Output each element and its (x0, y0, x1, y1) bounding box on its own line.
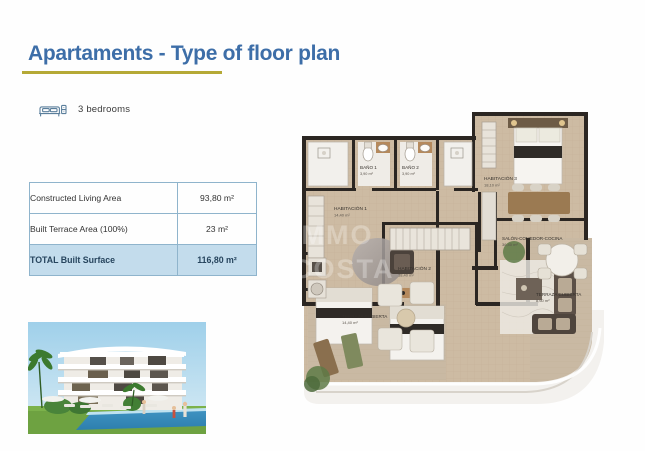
building-photo (28, 322, 206, 434)
room-label-habitacion-3: HABITACIÓN 3 (484, 175, 517, 182)
title-underline-bar (22, 71, 222, 74)
table-row: Constructed Living Area 93,80 m² (30, 183, 257, 214)
table-row-total: TOTAL Built Surface 116,80 m² (30, 245, 257, 276)
row-label: Constructed Living Area (30, 183, 178, 214)
area-table: Constructed Living Area 93,80 m² Built T… (29, 182, 257, 276)
table-row: Built Terrace Area (100%) 23 m² (30, 214, 257, 245)
row-label: TOTAL Built Surface (30, 245, 178, 276)
room-label-bano-1: BAÑO 1 (360, 164, 377, 170)
floorplan-drawing: IMMO COSTA BAÑO 1 3,90 m² BAÑO 2 3,90 m²… (286, 92, 622, 422)
row-value: 93,80 m² (178, 183, 257, 214)
room-area-habitacion-2: 18,40 m² (398, 273, 414, 278)
room-area-terraza-2: 8,60 m² (536, 298, 550, 303)
room-area-habitacion-3: 18,10 m² (484, 183, 500, 188)
room-label-habitacion-1: HABITACIÓN 1 (334, 205, 367, 212)
room-area-terraza-1: 14,40 m² (342, 320, 358, 325)
watermark-line-1: IMMO (292, 220, 374, 250)
page-title: Apartaments - Type of floor plan (28, 42, 340, 66)
row-label: Built Terrace Area (100%) (30, 214, 178, 245)
room-label-bano-2: BAÑO 2 (402, 164, 419, 170)
bedrooms-label: 3 bedrooms (78, 104, 130, 115)
row-value: 23 m² (178, 214, 257, 245)
room-area-bano-1: 3,90 m² (360, 172, 374, 176)
bedrooms-summary: 3 bedrooms (38, 100, 130, 118)
row-value: 116,80 m² (178, 245, 257, 276)
room-label-salon: SALÓN-COMEDOR-COCINA (502, 235, 563, 241)
room-area-bano-2: 3,90 m² (402, 172, 416, 176)
bed-icon (38, 100, 68, 118)
room-label-terraza-1: TERRAZA CUBIERTA (342, 314, 388, 319)
room-label-terraza-2: TERRAZA CUBIERTA (536, 292, 582, 297)
room-label-habitacion-2: HABITACIÓN 2 (398, 265, 431, 272)
room-area-salon: 36,40 m² (502, 242, 518, 247)
slide-page: Apartaments - Type of floor plan 3 bedro… (0, 0, 645, 451)
watermark-line-2: COSTA (292, 254, 395, 284)
room-area-habitacion-1: 14,40 m² (334, 213, 350, 218)
